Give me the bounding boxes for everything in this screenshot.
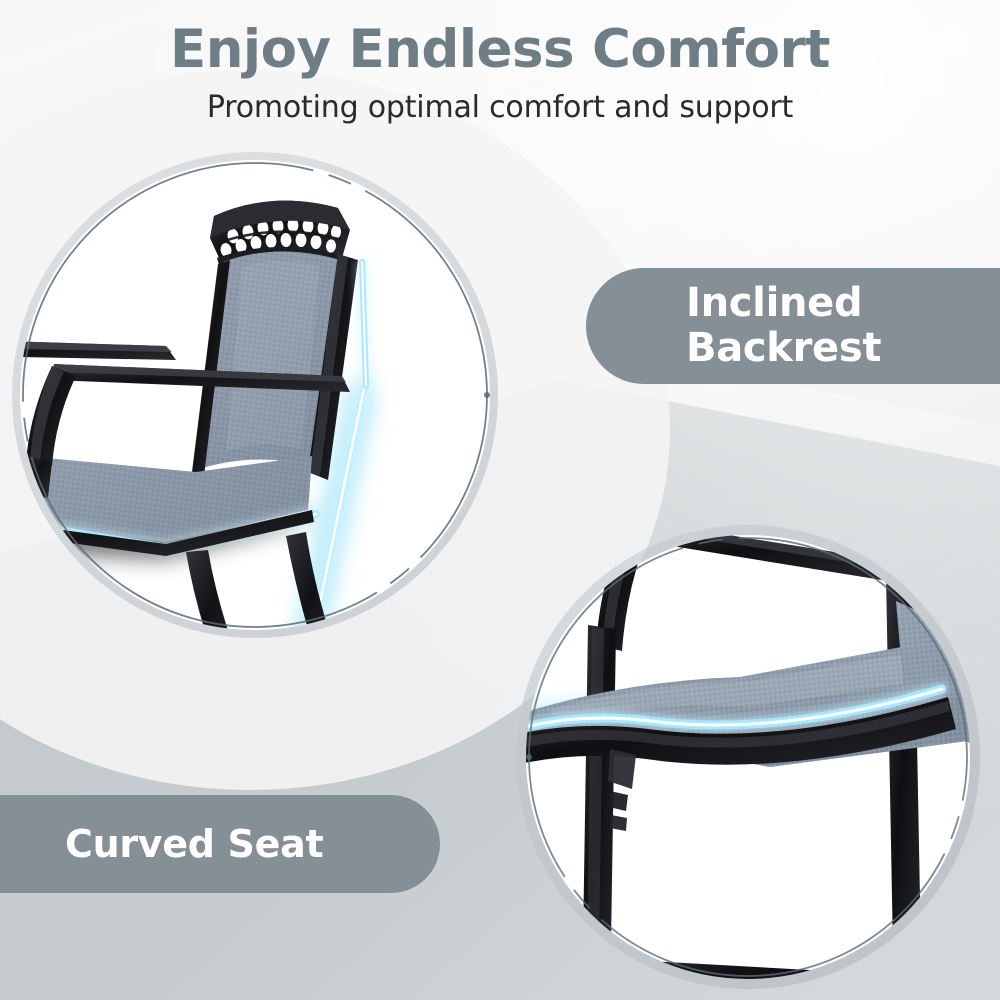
badge-inclined-backrest[interactable]: Inclined Backrest (586, 268, 1000, 384)
photo-backrest-closeup (0, 150, 530, 670)
badge-line-2: Backrest (686, 326, 881, 371)
page-title: Enjoy Endless Comfort (0, 0, 1000, 78)
product-feature-graphic: Enjoy Endless Comfort Promoting optimal … (0, 0, 1000, 1000)
badge-curved-seat[interactable]: Curved Seat (0, 795, 440, 893)
page-subtitle: Promoting optimal comfort and support (0, 78, 1000, 125)
header: Enjoy Endless Comfort Promoting optimal … (0, 0, 1000, 125)
badge-line-1: Curved Seat (65, 823, 323, 866)
badge-line-1: Inclined (686, 281, 881, 326)
photo-seat-closeup (470, 505, 1000, 1000)
